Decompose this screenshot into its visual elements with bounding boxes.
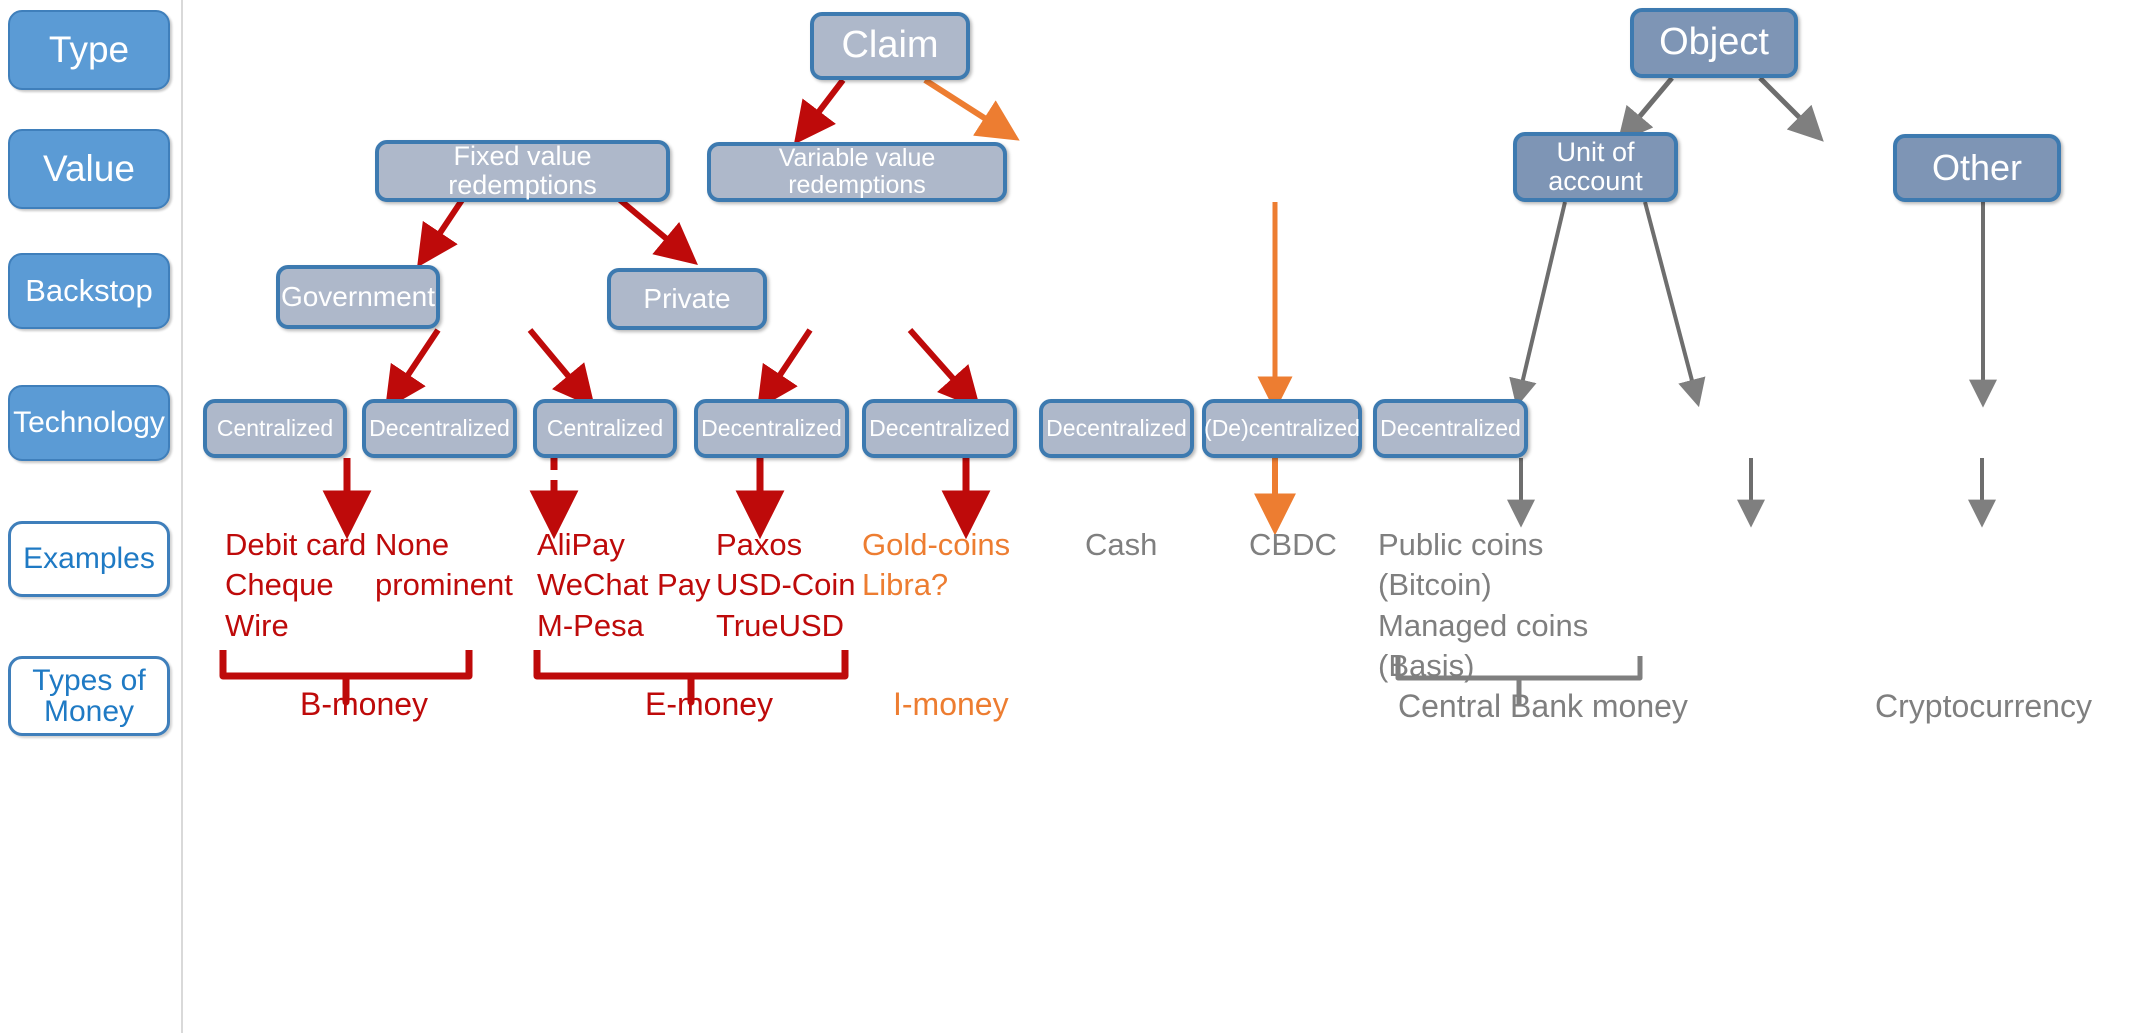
money-type-e-money: E-money [645,686,773,723]
arrow-object-to-unit-of-account [1630,78,1672,128]
example-i-money: Gold-coins Libra? [862,525,1010,606]
node-private[interactable]: Private [607,268,767,330]
arrow-object-to-other [1760,78,1810,128]
arrow-unit-to-decentralized [1520,202,1565,392]
node-variable-value-redemptions[interactable]: Variable value redemptions [707,142,1007,202]
node-tech-decentralized-variable[interactable]: Decentralized [862,399,1017,458]
rail-item-examples[interactable]: Examples [8,521,170,597]
money-type-i-money: I-money [893,686,1009,723]
node-tech-centralized-gov[interactable]: Centralized [203,399,347,458]
arrow-unit-to-decentralized-2 [1645,202,1695,392]
diagram-canvas: Type Value Backstop Technology Examples … [0,0,2145,1033]
rail-item-type[interactable]: Type [8,10,170,90]
example-e-money-centralized: AliPay WeChat Pay M-Pesa [537,525,710,646]
node-government[interactable]: Government [276,265,440,329]
rail-item-types-of-money[interactable]: Types of Money [8,656,170,736]
example-e-money-decentralized: Paxos USD-Coin TrueUSD [716,525,856,646]
node-tech-decentralized-unit[interactable]: Decentralized [1039,399,1194,458]
rail-item-technology[interactable]: Technology [8,385,170,461]
example-b-money-decentralized: None prominent [375,525,513,606]
connector-overlay [0,0,2145,1033]
node-object[interactable]: Object [1630,8,1798,78]
node-tech-decentralized-gov[interactable]: Decentralized [362,399,517,458]
example-b-money-centralized: Debit card Cheque Wire [225,525,366,646]
money-type-central-bank-money: Central Bank money [1398,688,1688,725]
arrow-fixed-to-government [430,200,462,248]
arrow-private-to-decentralized [910,330,965,392]
money-type-cryptocurrency: Cryptocurrency [1875,688,2092,725]
node-claim[interactable]: Claim [810,12,970,80]
arrow-government-to-decentralized [530,330,580,390]
node-tech-de-centralized-unit[interactable]: (De)centralized [1202,399,1362,458]
node-tech-centralized-priv[interactable]: Centralized [533,399,677,458]
example-cash: Cash [1085,525,1157,565]
node-fixed-value-redemptions[interactable]: Fixed value redemptions [375,140,670,202]
arrow-private-to-centralized [770,330,810,390]
arrow-claim-to-fixed [808,80,843,126]
rail-item-backstop[interactable]: Backstop [8,253,170,329]
node-tech-decentralized-other[interactable]: Decentralized [1373,399,1528,458]
node-unit-of-account[interactable]: Unit of account [1513,132,1678,202]
example-cbdc: CBDC [1249,525,1337,565]
arrow-government-to-centralized [398,330,438,390]
arrow-fixed-to-private [620,200,680,250]
money-type-b-money: B-money [300,686,428,723]
example-cryptocurrency: Public coins (Bitcoin) Managed coins (Ba… [1378,525,1588,686]
arrow-claim-to-variable [925,80,1000,128]
node-tech-decentralized-priv[interactable]: Decentralized [694,399,849,458]
rail-item-value[interactable]: Value [8,129,170,209]
rail-separator [181,0,183,1033]
node-other[interactable]: Other [1893,134,2061,202]
